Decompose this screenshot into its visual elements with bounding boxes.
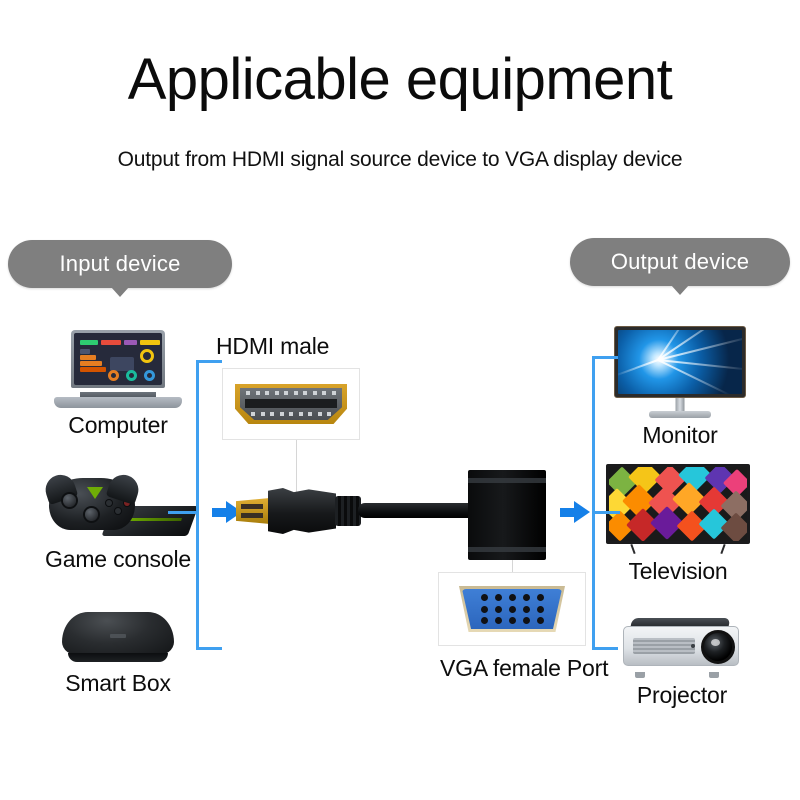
badge-output-label: Output device bbox=[611, 249, 749, 275]
television-icon bbox=[606, 464, 750, 554]
output-bracket-top-stub bbox=[592, 356, 618, 359]
vga-female-port-icon bbox=[459, 586, 565, 632]
device-computer: Computer bbox=[18, 330, 218, 439]
device-monitor: Monitor bbox=[580, 326, 780, 449]
device-label: Smart Box bbox=[18, 670, 218, 697]
input-bracket-bottom-stub bbox=[196, 647, 222, 650]
page-title: Applicable equipment bbox=[0, 48, 800, 112]
vga-callout-box bbox=[438, 572, 586, 646]
device-label: Television bbox=[578, 558, 778, 585]
set-top-box-icon bbox=[56, 610, 180, 666]
output-bracket-line bbox=[592, 356, 595, 650]
badge-input-device: Input device bbox=[8, 240, 232, 288]
hdmi-male-plug bbox=[236, 498, 270, 524]
input-bracket-mid-stub bbox=[168, 511, 198, 514]
device-label: Game console bbox=[18, 546, 218, 573]
monitor-icon bbox=[614, 326, 746, 418]
output-bracket-mid-stub bbox=[592, 511, 620, 514]
hdmi-callout-box bbox=[222, 368, 360, 440]
game-controller-icon bbox=[43, 472, 193, 542]
hdmi-plug-housing bbox=[268, 488, 336, 534]
input-bracket-line bbox=[196, 360, 199, 650]
device-game-console: Game console bbox=[18, 472, 218, 573]
projector-icon bbox=[617, 616, 747, 678]
badge-pointer bbox=[671, 285, 689, 295]
device-label: Computer bbox=[18, 412, 218, 439]
badge-input-label: Input device bbox=[59, 251, 180, 277]
laptop-icon bbox=[54, 330, 182, 408]
device-television: Television bbox=[578, 464, 778, 585]
device-smart-box: Smart Box bbox=[18, 610, 218, 697]
device-label: Monitor bbox=[580, 422, 780, 449]
device-projector: Projector bbox=[582, 616, 782, 709]
badge-output-device: Output device bbox=[570, 238, 790, 286]
input-bracket-top-stub bbox=[196, 360, 222, 363]
hdmi-callout-label: HDMI male bbox=[216, 333, 329, 360]
output-bracket-bottom-stub bbox=[592, 647, 618, 650]
page-subtitle: Output from HDMI signal source device to… bbox=[0, 148, 800, 172]
device-label: Projector bbox=[582, 682, 782, 709]
output-arrow-right-icon bbox=[574, 501, 590, 523]
badge-pointer bbox=[111, 287, 129, 297]
hdmi-male-connector-icon bbox=[235, 384, 347, 424]
vga-callout-label: VGA female Port bbox=[440, 655, 608, 682]
vga-female-housing bbox=[468, 470, 546, 560]
hdmi-to-vga-adapter bbox=[236, 470, 546, 560]
infographic-root: Applicable equipment Output from HDMI si… bbox=[0, 0, 800, 800]
